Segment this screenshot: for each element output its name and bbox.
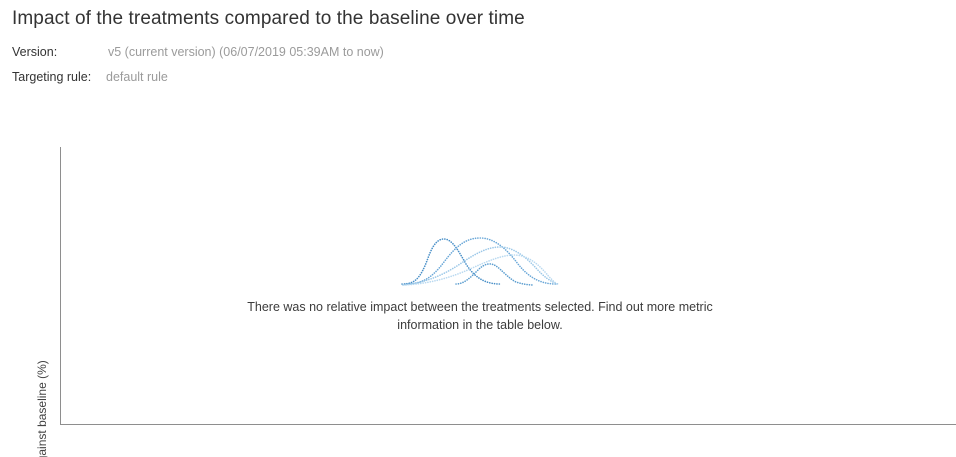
targeting-rule-value: default rule xyxy=(106,70,168,84)
chart-empty-state: There was no relative impact between the… xyxy=(330,222,630,334)
chart-plot-area: Impact compared against baseline (%) The… xyxy=(0,140,956,440)
empty-state-message: There was no relative impact between the… xyxy=(245,298,715,334)
version-row: Version: v5 (current version) (06/07/201… xyxy=(12,45,384,59)
version-label: Version: xyxy=(12,45,108,59)
dotted-bell-curves-icon xyxy=(400,222,560,288)
y-axis-label: Impact compared against baseline (%) xyxy=(32,265,52,457)
version-value: v5 (current version) (06/07/2019 05:39AM… xyxy=(108,45,384,59)
x-axis-line xyxy=(60,424,956,425)
targeting-rule-label: Targeting rule: xyxy=(12,70,106,84)
targeting-rule-row: Targeting rule: default rule xyxy=(12,70,168,84)
page-title: Impact of the treatments compared to the… xyxy=(12,8,525,30)
impact-chart-panel: Impact of the treatments compared to the… xyxy=(0,0,956,457)
y-axis-line xyxy=(60,147,61,425)
